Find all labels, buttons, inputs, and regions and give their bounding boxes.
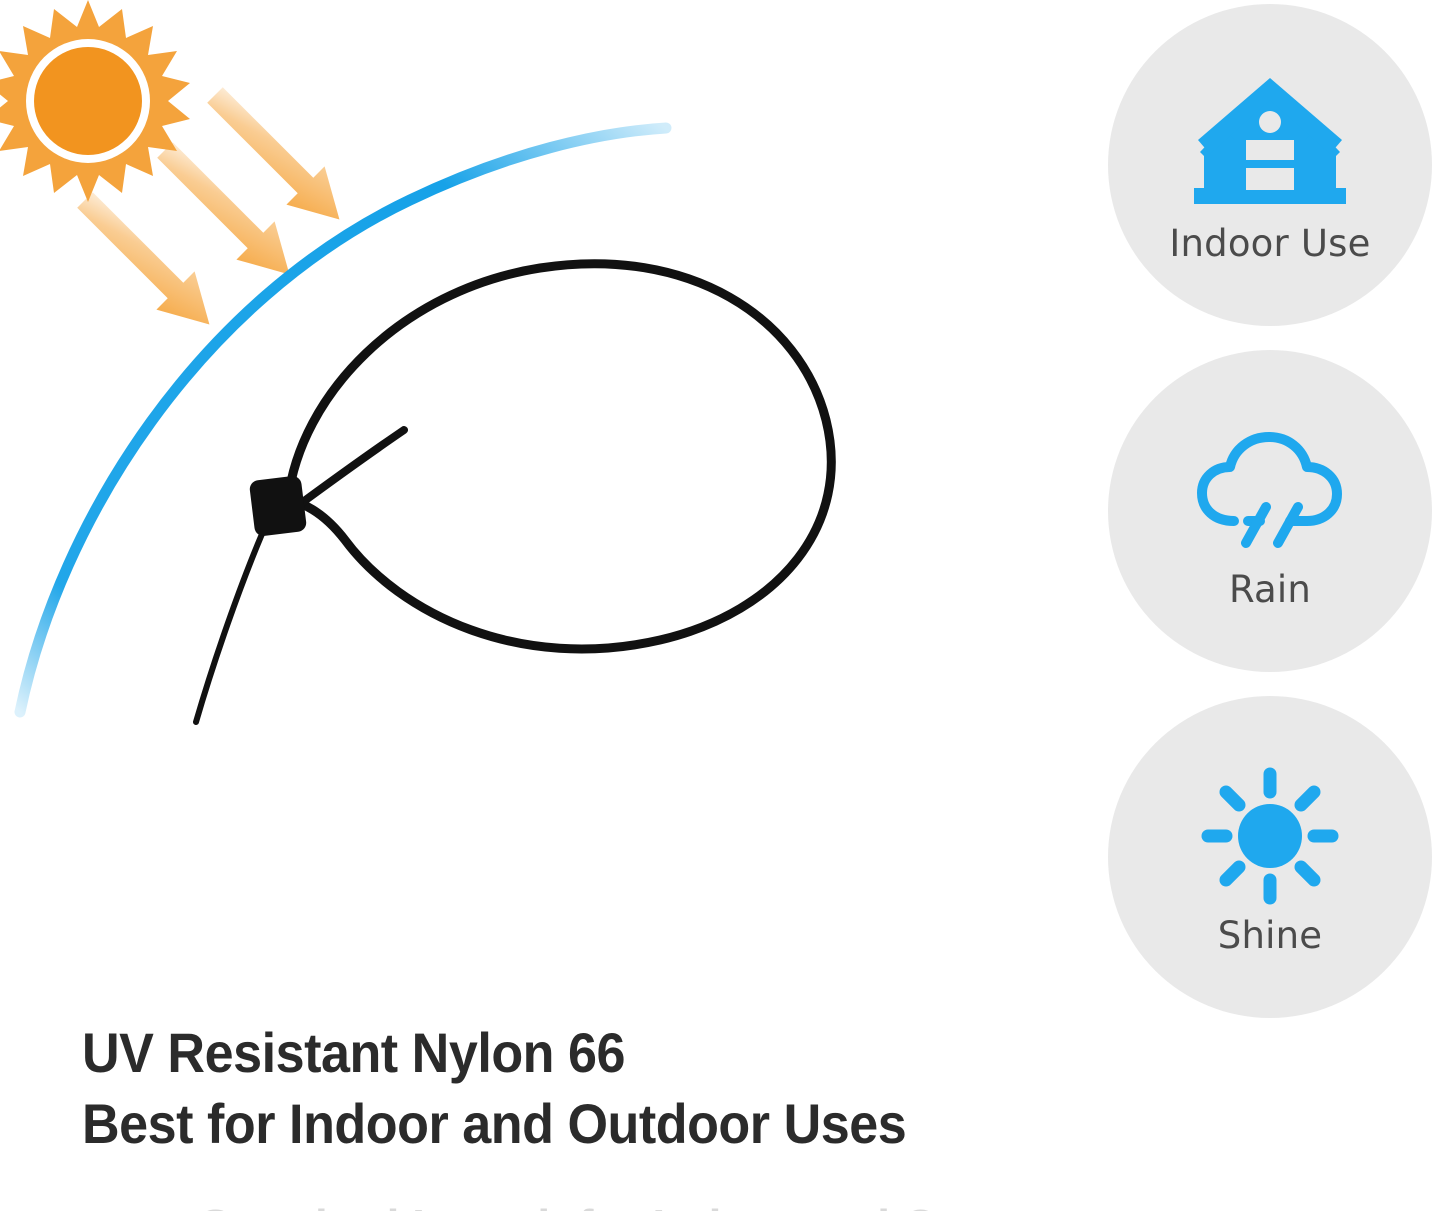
cable-tie-head — [249, 475, 307, 537]
house-icon — [1188, 69, 1352, 219]
badge-rain[interactable]: Rain — [1108, 350, 1432, 672]
cropped-bottom-text-label: Standard Length for Indoor and Outdoor — [200, 1203, 960, 1211]
cable-tie-illustration — [196, 264, 831, 722]
infographic-canvas: Indoor Use Rain — [0, 0, 1432, 1211]
headline-line-1: UV Resistant Nylon 66 — [82, 1018, 1012, 1089]
cable-tie-tail — [196, 534, 262, 722]
sun-shine-icon — [1188, 761, 1352, 911]
badge-label-rain: Rain — [1229, 571, 1311, 608]
headline-block: UV Resistant Nylon 66 Best for Indoor an… — [82, 1018, 1082, 1159]
uv-resistance-illustration — [0, 0, 1060, 980]
badge-indoor-use[interactable]: Indoor Use — [1108, 4, 1432, 326]
feature-badge-column: Indoor Use Rain — [1108, 4, 1432, 1018]
uv-shield-arc — [20, 128, 666, 712]
sun-icon — [0, 0, 190, 202]
badge-shine[interactable]: Shine — [1108, 696, 1432, 1018]
badge-label-shine: Shine — [1218, 917, 1322, 954]
badge-label-indoor-use: Indoor Use — [1169, 225, 1370, 262]
uv-ray-arrow-1 — [66, 181, 229, 344]
headline-line-2: Best for Indoor and Outdoor Uses — [82, 1089, 1012, 1160]
rain-cloud-icon — [1188, 415, 1352, 565]
cropped-bottom-text: Standard Length for Indoor and Outdoor — [200, 1203, 960, 1211]
cable-tie-strap — [292, 430, 404, 510]
